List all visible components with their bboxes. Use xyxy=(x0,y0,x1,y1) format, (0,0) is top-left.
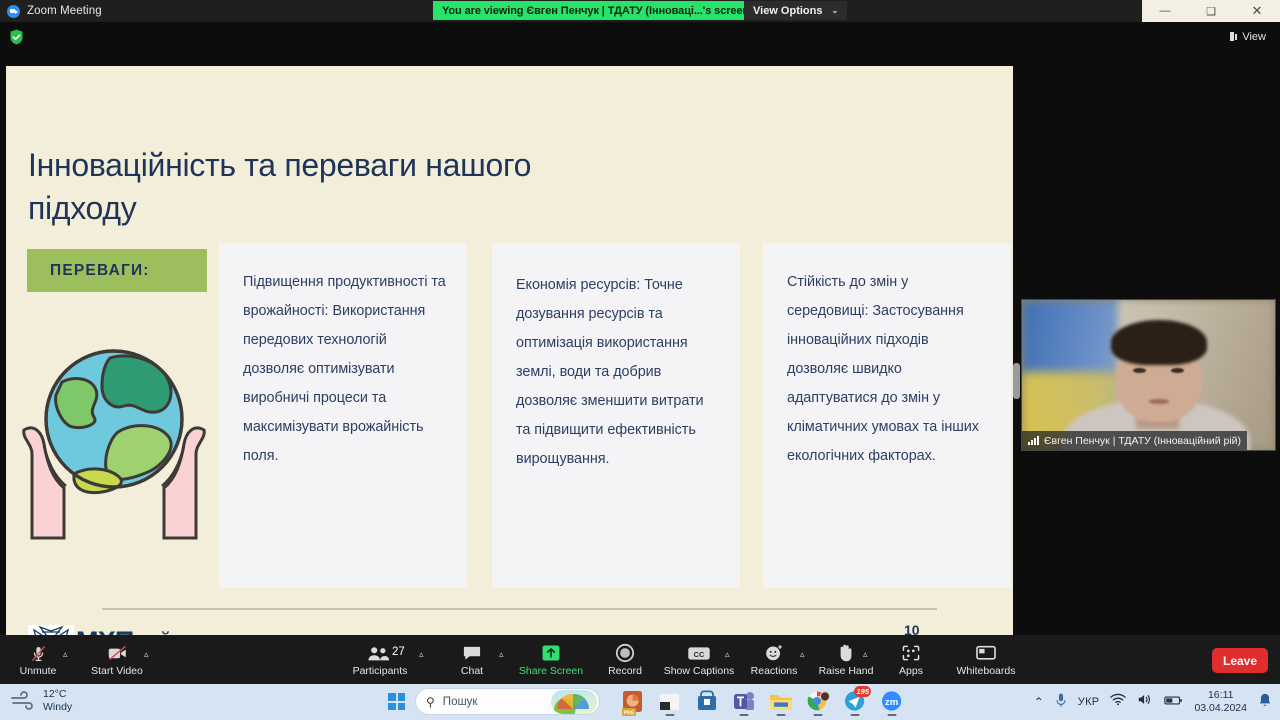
window-controls: — ❑ ✕ xyxy=(1142,0,1280,22)
svg-text:PRE: PRE xyxy=(623,710,634,716)
share-resize-handle[interactable] xyxy=(1013,363,1020,399)
advantage-card-3: Стійкість до змін у середовищі: Застосув… xyxy=(763,243,1011,588)
wifi-icon[interactable] xyxy=(1110,693,1126,711)
windows-taskbar: 12°C Windy ⚲ Пошук PRE xyxy=(0,684,1280,720)
whiteboards-button[interactable]: Whiteboards xyxy=(950,637,1022,682)
taskbar-clock[interactable]: 16:11 03.04.2024 xyxy=(1194,689,1247,715)
signal-bars-icon xyxy=(1028,436,1039,445)
tray-overflow-chevron-icon[interactable]: ⌃ xyxy=(1034,695,1044,709)
video-muted-icon xyxy=(107,642,128,664)
search-highlight-image xyxy=(551,690,597,714)
start-video-label: Start Video xyxy=(91,665,143,677)
advantage-card-2-text: Економія ресурсів: Точне дозування ресур… xyxy=(492,243,740,474)
captions-chevron-icon[interactable]: ▵ xyxy=(725,649,730,660)
svg-text:zm: zm xyxy=(885,697,898,708)
slide-title: Інноваційність та переваги нашого підход… xyxy=(28,144,588,230)
participants-count: 27 xyxy=(392,646,405,658)
record-button[interactable]: Record xyxy=(597,637,653,682)
microsoft-store-icon[interactable] xyxy=(694,688,720,716)
shield-check-icon[interactable] xyxy=(9,29,24,45)
raise-hand-label: Raise Hand xyxy=(819,665,874,677)
advantage-card-1: Підвищення продуктивності та врожайності… xyxy=(219,243,467,588)
restore-button[interactable]: ❑ xyxy=(1188,0,1234,22)
weather-description: Windy xyxy=(43,701,72,714)
chat-chevron-icon[interactable]: ▵ xyxy=(499,649,504,660)
view-options-label: View Options xyxy=(753,5,822,17)
system-tray: ⌃ УКР xyxy=(1034,688,1272,716)
chat-button[interactable]: Chat xyxy=(450,637,494,682)
unmute-button[interactable]: Unmute xyxy=(14,637,62,682)
language-indicator[interactable]: УКР xyxy=(1078,696,1100,708)
person-eye-left xyxy=(1133,368,1146,373)
zoom-icon[interactable]: zm xyxy=(879,688,905,716)
close-button[interactable]: ✕ xyxy=(1234,0,1280,22)
person-eye-right xyxy=(1171,368,1184,373)
audio-options-chevron-icon[interactable]: ▵ xyxy=(63,649,68,660)
reactions-smiley-icon xyxy=(764,642,784,664)
zoom-meeting-canvas: View Інноваційність та переваги нашого п… xyxy=(0,22,1280,635)
participant-name-label: Євген Пенчук | ТДАТУ (Інноваційний рій) xyxy=(1022,431,1247,450)
view-layout-button[interactable]: View xyxy=(1224,27,1272,46)
file-explorer-icon[interactable] xyxy=(768,688,794,716)
running-indicator xyxy=(888,714,897,716)
window-title: Zoom Meeting xyxy=(27,5,102,17)
minimize-button[interactable]: — xyxy=(1142,0,1188,22)
participant-name-text: Євген Пенчук | ТДАТУ (Інноваційний рій) xyxy=(1044,435,1241,447)
advantages-badge-label: ПЕРЕВАГИ: xyxy=(50,262,150,280)
running-indicator xyxy=(666,714,675,716)
record-label: Record xyxy=(608,665,642,677)
running-indicator xyxy=(740,714,749,716)
windows-start-icon[interactable] xyxy=(388,693,405,710)
taskbar-app-icons: PRE xyxy=(620,688,905,716)
clock-date: 03.04.2024 xyxy=(1194,702,1247,715)
raise-hand-icon xyxy=(837,642,855,664)
volume-icon[interactable] xyxy=(1137,693,1153,711)
view-button-label: View xyxy=(1242,31,1266,43)
titlebar-left: Zoom Meeting xyxy=(0,5,102,18)
search-placeholder: Пошук xyxy=(443,696,478,708)
running-indicator xyxy=(814,714,823,716)
hands-holding-earth-illustration xyxy=(14,334,214,544)
taskbar-center: ⚲ Пошук xyxy=(388,688,600,715)
person-hair xyxy=(1111,320,1207,365)
share-screen-label: Share Screen xyxy=(519,665,583,677)
participants-icon xyxy=(367,642,394,664)
share-screen-button[interactable]: Share Screen xyxy=(518,637,584,682)
screen-share-banner: You are viewing Євген Пенчук | ТДАТУ (Ін… xyxy=(433,1,758,20)
clock-time: 16:11 xyxy=(1194,689,1247,702)
reactions-label: Reactions xyxy=(751,665,798,677)
participants-button[interactable]: Participants xyxy=(349,637,411,682)
advantages-badge: ПЕРЕВАГИ: xyxy=(27,249,207,292)
layout-grid-icon xyxy=(1230,32,1238,41)
advantage-card-2: Економія ресурсів: Точне дозування ресур… xyxy=(492,243,740,588)
start-video-button[interactable]: Start Video xyxy=(88,637,146,682)
raise-hand-button[interactable]: Raise Hand xyxy=(815,637,877,682)
raise-hand-chevron-icon[interactable]: ▵ xyxy=(863,649,868,660)
powerpoint-icon[interactable]: PRE xyxy=(620,688,646,716)
advantage-card-3-text: Стійкість до змін у середовищі: Застосув… xyxy=(763,243,1011,471)
view-options-button[interactable]: View Options ⌄ xyxy=(744,1,847,20)
windy-icon xyxy=(10,690,36,712)
reactions-chevron-icon[interactable]: ▵ xyxy=(800,649,805,660)
reactions-button[interactable]: Reactions xyxy=(745,637,803,682)
record-circle-icon xyxy=(615,642,635,664)
telegram-icon[interactable]: 195 xyxy=(842,688,868,716)
chat-label: Chat xyxy=(461,665,483,677)
chat-bubble-icon xyxy=(462,642,482,664)
shared-slide: Інноваційність та переваги нашого підход… xyxy=(6,66,1013,657)
unmute-label: Unmute xyxy=(20,665,57,677)
video-options-chevron-icon[interactable]: ▵ xyxy=(144,649,149,660)
leave-button[interactable]: Leave xyxy=(1212,648,1268,673)
zoom-meeting-toolbar: Unmute ▵ Start Video ▵ Participants 27 ▵ xyxy=(0,635,1280,684)
participant-video-thumbnail[interactable]: Євген Пенчук | ТДАТУ (Інноваційний рій) xyxy=(1021,299,1276,451)
closed-captions-icon: CC xyxy=(687,642,711,664)
show-captions-label: Show Captions xyxy=(664,665,735,677)
file-explorer-dark-icon[interactable] xyxy=(657,688,683,716)
bell-icon[interactable] xyxy=(1258,692,1272,713)
advantage-card-1-text: Підвищення продуктивності та врожайності… xyxy=(219,243,467,471)
chevron-down-icon: ⌄ xyxy=(831,6,838,15)
svg-text:CC: CC xyxy=(694,649,705,658)
person-mouth xyxy=(1149,399,1169,404)
footer-divider xyxy=(102,608,937,610)
whiteboards-label: Whiteboards xyxy=(957,665,1016,677)
microsoft-teams-icon[interactable] xyxy=(731,688,757,716)
google-chrome-icon[interactable] xyxy=(805,688,831,716)
microphone-icon[interactable] xyxy=(1055,692,1067,713)
weather-text: 12°C Windy xyxy=(43,688,72,714)
participants-label: Participants xyxy=(353,665,408,677)
apps-icon xyxy=(901,642,921,664)
microphone-muted-icon xyxy=(29,642,48,664)
search-icon: ⚲ xyxy=(426,695,435,709)
weather-temperature: 12°C xyxy=(43,688,72,701)
telegram-unread-badge: 195 xyxy=(854,686,871,697)
participants-chevron-icon[interactable]: ▵ xyxy=(419,649,424,660)
apps-label: Apps xyxy=(899,665,923,677)
running-indicator xyxy=(851,714,860,716)
zoom-app-icon xyxy=(7,5,20,18)
running-indicator xyxy=(777,714,786,716)
battery-icon[interactable] xyxy=(1164,693,1183,711)
weather-widget[interactable]: 12°C Windy xyxy=(10,688,72,714)
search-input[interactable]: ⚲ Пошук xyxy=(415,688,600,715)
share-screen-icon xyxy=(541,642,561,664)
whiteboard-icon xyxy=(975,642,997,664)
apps-button[interactable]: Apps xyxy=(888,637,934,682)
